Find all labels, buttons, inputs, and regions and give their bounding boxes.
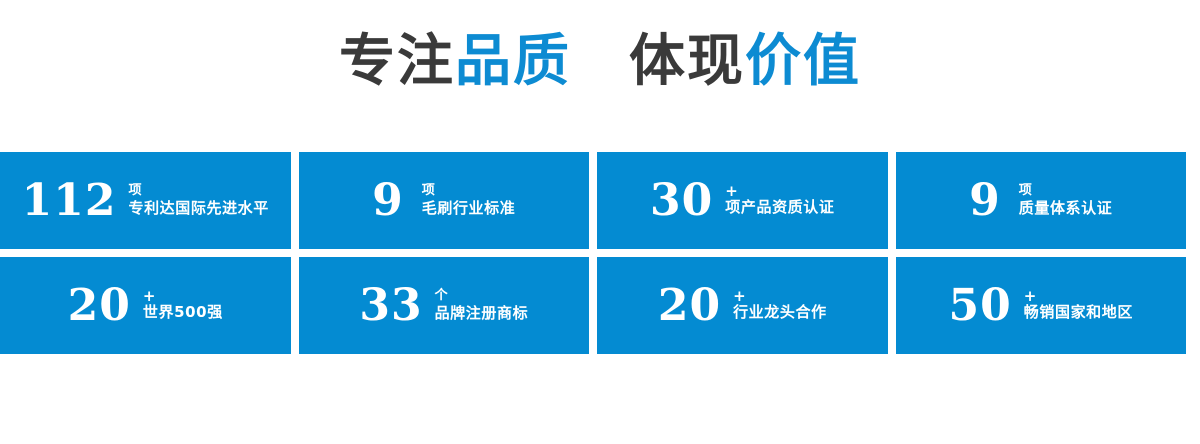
stat-label: 专利达国际先进水平 (128, 199, 268, 217)
stat-number: 30 (650, 179, 713, 223)
stat-text: 个 品牌注册商标 (435, 288, 529, 322)
stat-unit: + (733, 289, 827, 303)
stat-label: 质量体系认证 (1019, 199, 1113, 217)
stat-text: + 畅销国家和地区 (1024, 289, 1133, 322)
stat-unit: + (143, 289, 223, 303)
stat-card[interactable]: 50 + 畅销国家和地区 (896, 257, 1187, 354)
stat-text: + 世界500强 (143, 289, 223, 322)
stat-card[interactable]: 33 个 品牌注册商标 (299, 257, 590, 354)
stat-number: 9 (372, 179, 404, 223)
stat-content: 9 项 质量体系认证 (969, 179, 1112, 223)
stat-content: 33 个 品牌注册商标 (359, 284, 528, 328)
stat-number: 20 (68, 284, 131, 328)
stat-content: 50 + 畅销国家和地区 (949, 284, 1133, 328)
stat-content: 20 + 行业龙头合作 (658, 284, 827, 328)
stat-unit: + (725, 184, 834, 198)
stat-label: 畅销国家和地区 (1024, 303, 1133, 321)
stats-grid: 112 项 专利达国际先进水平 9 项 毛刷行业标准 30 + (0, 152, 1186, 354)
stat-text: 项 专利达国际先进水平 (128, 183, 268, 217)
page-title: 专注品质体现价值 (0, 34, 1200, 90)
stat-content: 30 + 项产品资质认证 (650, 179, 834, 223)
stat-label: 品牌注册商标 (435, 304, 529, 322)
stat-number: 9 (969, 179, 1001, 223)
stat-unit: 个 (435, 288, 529, 304)
stat-unit: + (1024, 289, 1133, 303)
stat-text: 项 质量体系认证 (1019, 183, 1113, 217)
stat-text: + 行业龙头合作 (733, 289, 827, 322)
stat-card[interactable]: 20 + 世界500强 (0, 257, 291, 354)
stat-unit: 项 (128, 183, 268, 199)
headline-segment-2: 品质 (455, 34, 571, 90)
stat-content: 112 项 专利达国际先进水平 (22, 179, 269, 223)
headline-segment-4: 价值 (745, 34, 861, 90)
stat-label: 行业龙头合作 (733, 303, 827, 321)
stat-label: 世界500强 (143, 303, 223, 321)
stat-card[interactable]: 30 + 项产品资质认证 (597, 152, 888, 249)
stat-label: 项产品资质认证 (725, 198, 834, 216)
headline-segment-1: 专注 (339, 34, 455, 90)
stat-card[interactable]: 9 项 毛刷行业标准 (299, 152, 590, 249)
stat-text: + 项产品资质认证 (725, 184, 834, 217)
stat-text: 项 毛刷行业标准 (422, 183, 516, 217)
headline-segment-3: 体现 (629, 34, 745, 90)
stat-label: 毛刷行业标准 (422, 199, 516, 217)
stat-number: 50 (949, 284, 1012, 328)
stat-card[interactable]: 9 项 质量体系认证 (896, 152, 1187, 249)
stat-number: 112 (22, 179, 117, 223)
stat-card[interactable]: 112 项 专利达国际先进水平 (0, 152, 291, 249)
stat-content: 20 + 世界500强 (68, 284, 223, 328)
stat-content: 9 项 毛刷行业标准 (372, 179, 515, 223)
stat-unit: 项 (1019, 183, 1113, 199)
promo-banner: 专注品质体现价值 112 项 专利达国际先进水平 9 项 毛刷行业标准 (0, 0, 1200, 444)
stat-number: 20 (658, 284, 721, 328)
stat-card[interactable]: 20 + 行业龙头合作 (597, 257, 888, 354)
stat-number: 33 (359, 284, 422, 328)
stat-unit: 项 (422, 183, 516, 199)
